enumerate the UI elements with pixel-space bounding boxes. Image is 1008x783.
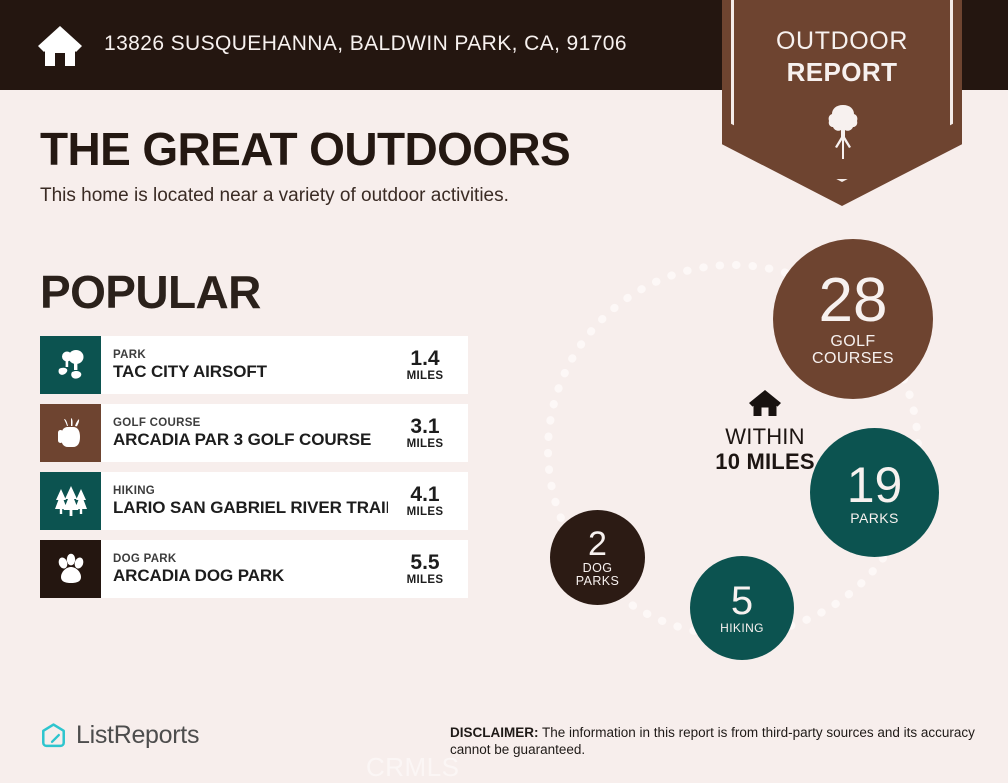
list-item-name: ARCADIA PAR 3 GOLF COURSE <box>113 430 388 449</box>
bubble-value: 5 <box>731 581 753 621</box>
listreports-wordmark: ListReports <box>76 721 199 750</box>
distance-unit: MILES <box>407 369 444 383</box>
bubble-label-line1: GOLF <box>830 334 875 351</box>
list-item-text: GOLF COURSE ARCADIA PAR 3 GOLF COURSE <box>101 404 388 462</box>
distance-value: 3.1 <box>410 416 439 437</box>
list-item-category: GOLF COURSE <box>113 417 388 430</box>
property-address: 13826 SUSQUEHANNA, BALDWIN PARK, CA, 917… <box>104 32 627 56</box>
chart-center-label: WITHIN 10 MILES <box>665 389 865 474</box>
crmls-watermark: CRMLS <box>366 752 460 783</box>
disclaimer-label: DISCLAIMER: <box>450 725 539 740</box>
list-item[interactable]: HIKING LARIO SAN GABRIEL RIVER TRAIL 4.1… <box>40 472 468 530</box>
list-item-category: DOG PARK <box>113 553 388 566</box>
center-line-2: 10 MILES <box>665 449 865 474</box>
distance-unit: MILES <box>407 573 444 587</box>
paw-print-icon <box>54 552 88 586</box>
bubble-value: 28 <box>819 270 888 332</box>
list-item-icon-tile <box>40 404 101 462</box>
bubble-value: 2 <box>588 527 607 561</box>
list-item[interactable]: DOG PARK ARCADIA DOG PARK 5.5 MILES <box>40 540 468 598</box>
list-item-text: PARK TAC CITY AIRSOFT <box>101 336 388 394</box>
list-item-category: HIKING <box>113 485 388 498</box>
distance-unit: MILES <box>407 505 444 519</box>
list-item[interactable]: PARK TAC CITY AIRSOFT 1.4 MILES <box>40 336 468 394</box>
list-item-category: PARK <box>113 349 388 362</box>
list-item-name: ARCADIA DOG PARK <box>113 566 388 585</box>
badge-line-1: OUTDOOR <box>722 27 962 56</box>
page-title: THE GREAT OUTDOORS <box>40 122 570 176</box>
list-item-icon-tile <box>40 540 101 598</box>
list-item-text: HIKING LARIO SAN GABRIEL RIVER TRAIL <box>101 472 388 530</box>
bubble-label-line1: HIKING <box>720 622 764 635</box>
disclaimer: DISCLAIMER: The information in this repo… <box>450 724 998 758</box>
list-item-icon-tile <box>40 336 101 394</box>
popular-list: PARK TAC CITY AIRSOFT 1.4 MILES GOLF COU… <box>40 336 468 608</box>
home-icon <box>36 21 84 69</box>
outdoor-report-page: 13826 SUSQUEHANNA, BALDWIN PARK, CA, 917… <box>0 0 1008 778</box>
golf-bag-icon <box>55 416 87 450</box>
home-icon <box>748 389 782 417</box>
list-item-distance: 1.4 MILES <box>388 336 468 394</box>
list-item-name: LARIO SAN GABRIEL RIVER TRAIL <box>113 498 388 517</box>
distance-value: 1.4 <box>410 348 439 369</box>
within-10-miles-chart: 28 GOLF COURSES 19 PARKS 5 HIKING 2 DOG … <box>520 225 990 675</box>
bubble-hiking: 5 HIKING <box>690 556 794 660</box>
listreports-logo[interactable]: ListReports <box>40 721 199 750</box>
list-item-icon-tile <box>40 472 101 530</box>
listreports-house-icon <box>40 722 67 749</box>
tree-icon <box>827 103 859 159</box>
bubble-label-line1: PARKS <box>850 511 898 526</box>
outdoor-report-badge: OUTDOOR REPORT <box>722 0 962 206</box>
popular-heading: POPULAR <box>40 265 261 319</box>
bubble-label-line2: COURSES <box>812 351 894 368</box>
pine-trees-icon <box>53 485 89 517</box>
list-item-distance: 5.5 MILES <box>388 540 468 598</box>
distance-value: 5.5 <box>410 552 439 573</box>
badge-line-2: REPORT <box>722 57 962 88</box>
bubble-golf-courses: 28 GOLF COURSES <box>773 239 933 399</box>
bubble-dog-parks: 2 DOG PARKS <box>550 510 645 605</box>
list-item-name: TAC CITY AIRSOFT <box>113 362 388 381</box>
page-subtitle: This home is located near a variety of o… <box>40 185 509 207</box>
list-item[interactable]: GOLF COURSE ARCADIA PAR 3 GOLF COURSE 3.… <box>40 404 468 462</box>
distance-value: 4.1 <box>410 484 439 505</box>
list-item-distance: 4.1 MILES <box>388 472 468 530</box>
park-trees-icon <box>54 348 88 382</box>
list-item-text: DOG PARK ARCADIA DOG PARK <box>101 540 388 598</box>
bubble-label-line2: PARKS <box>576 575 619 588</box>
center-line-1: WITHIN <box>665 424 865 449</box>
distance-unit: MILES <box>407 437 444 451</box>
list-item-distance: 3.1 MILES <box>388 404 468 462</box>
